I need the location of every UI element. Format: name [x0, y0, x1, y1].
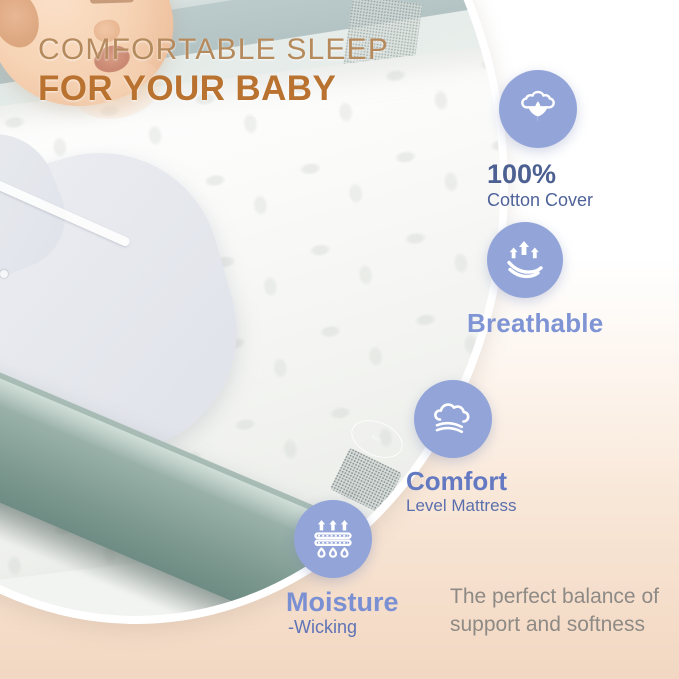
cloud-mattress-icon [428, 394, 478, 445]
cotton-badge [499, 70, 577, 148]
moisture-wicking-icon [309, 513, 357, 566]
cotton-boll-icon [514, 83, 562, 136]
feature-cotton-cover: 100% Cotton Cover [487, 70, 593, 210]
feature-breathable: Breathable [467, 222, 603, 338]
feature-title: Comfort [406, 468, 517, 496]
comfort-badge [414, 380, 492, 458]
product-feature-graphic: baby COMFORTABLE SLEEP FOR YOUR BABY 100… [0, 0, 679, 679]
tagline: The perfect balance of support and softn… [450, 583, 659, 638]
feature-subtitle: Cotton Cover [487, 191, 593, 211]
feature-title: Breathable [467, 310, 603, 338]
feature-comfort: Comfort Level Mattress [406, 380, 517, 515]
headline-line-2: FOR YOUR BABY [38, 69, 389, 108]
brand-logo-text: baby [371, 435, 383, 444]
moisture-badge [294, 500, 372, 578]
feature-subtitle: Level Mattress [406, 497, 517, 516]
feature-title: Moisture [286, 588, 399, 617]
onesie-button [0, 270, 8, 278]
breathable-badge [487, 222, 563, 298]
headline-line-1: COMFORTABLE SLEEP [38, 34, 389, 66]
feature-subtitle: -Wicking [288, 618, 399, 638]
tagline-line-1: The perfect balance of [450, 583, 659, 611]
tagline-line-2: support and softness [450, 611, 659, 639]
feature-moisture-wicking: Moisture -Wicking [286, 500, 399, 637]
headline: COMFORTABLE SLEEP FOR YOUR BABY [38, 34, 389, 108]
feature-title: 100% [487, 160, 593, 189]
breathable-airflow-icon [501, 235, 549, 286]
